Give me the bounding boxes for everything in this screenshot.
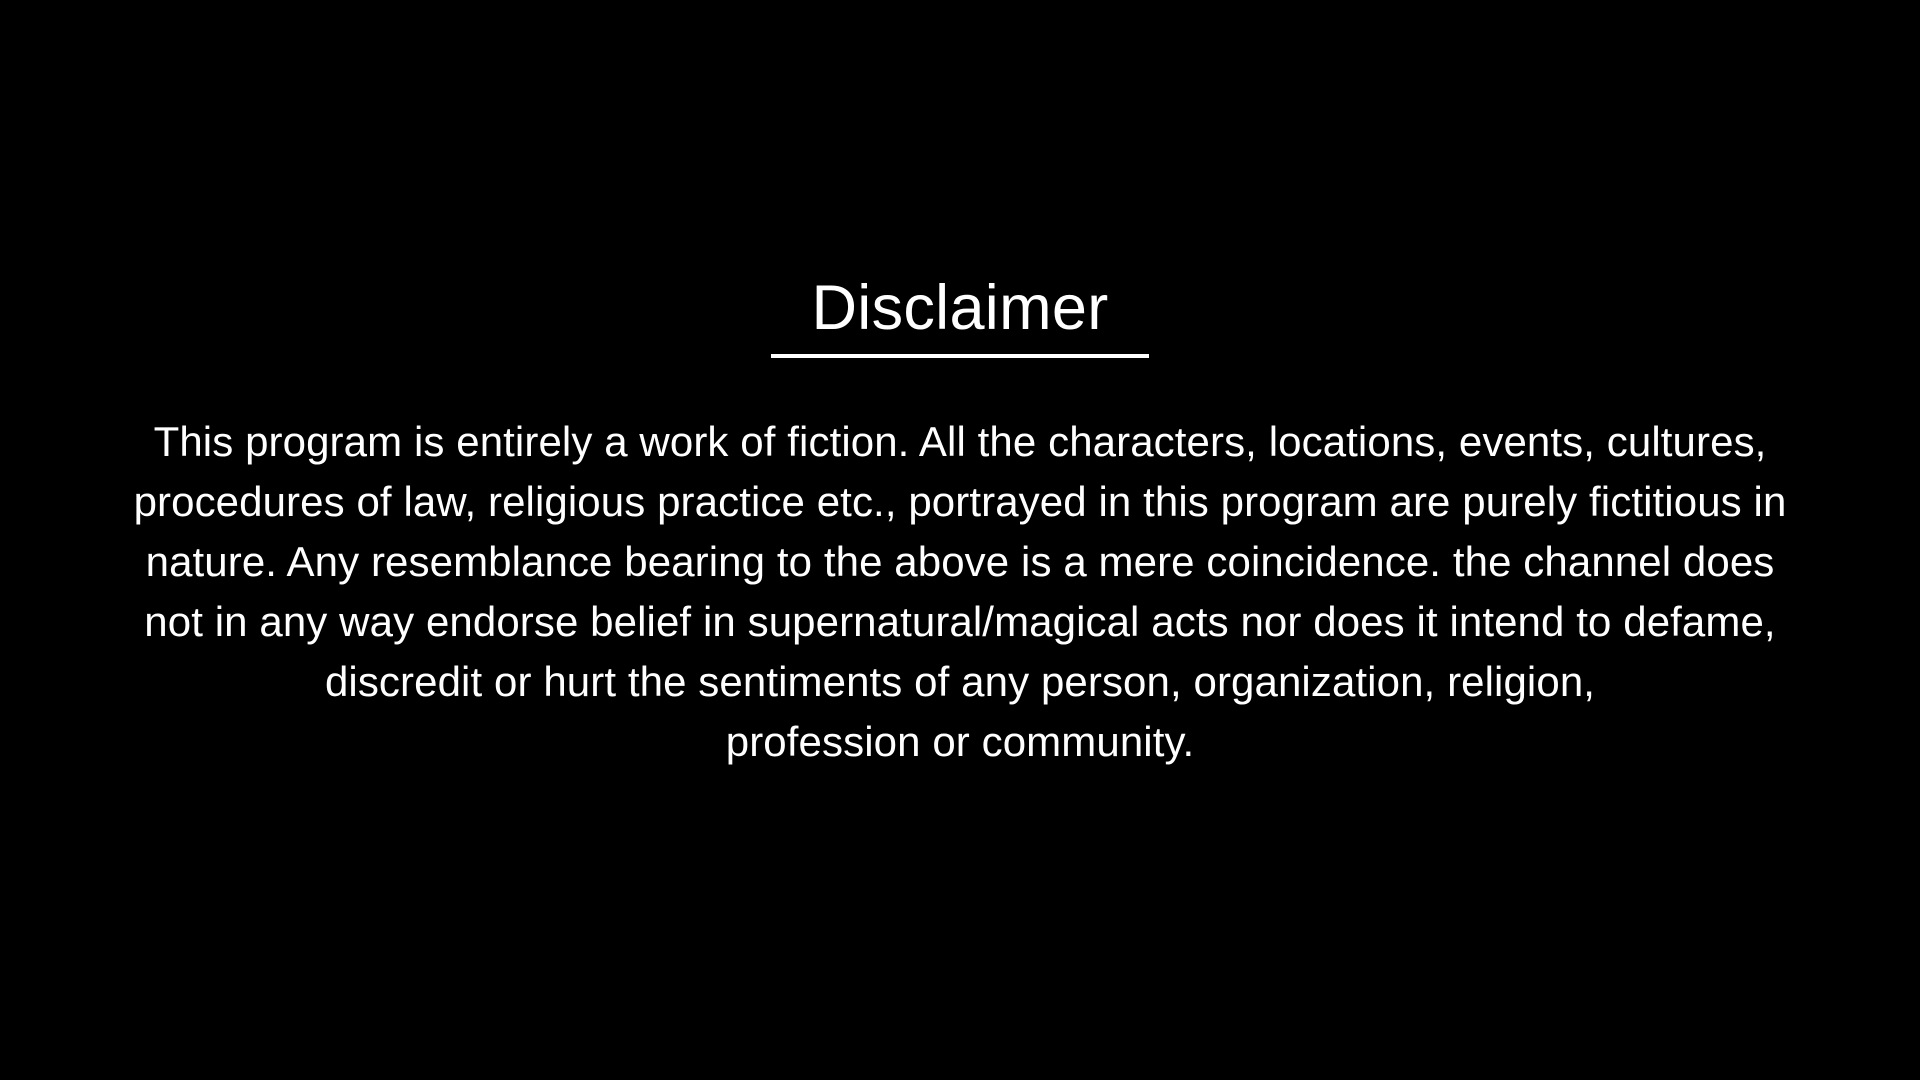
disclaimer-line: procedures of law, religious practice et… <box>110 472 1810 532</box>
disclaimer-line: This program is entirely a work of ficti… <box>110 412 1810 472</box>
disclaimer-slide: Disclaimer This program is entirely a wo… <box>0 0 1920 1080</box>
title-underline-divider <box>771 354 1149 358</box>
disclaimer-line: profession or community. <box>110 712 1810 772</box>
page-title: Disclaimer <box>811 272 1108 344</box>
disclaimer-line: not in any way endorse belief in superna… <box>110 592 1810 652</box>
title-block: Disclaimer <box>0 272 1920 358</box>
disclaimer-line: nature. Any resemblance bearing to the a… <box>110 532 1810 592</box>
disclaimer-line: discredit or hurt the sentiments of any … <box>110 652 1810 712</box>
disclaimer-body: This program is entirely a work of ficti… <box>110 412 1810 772</box>
